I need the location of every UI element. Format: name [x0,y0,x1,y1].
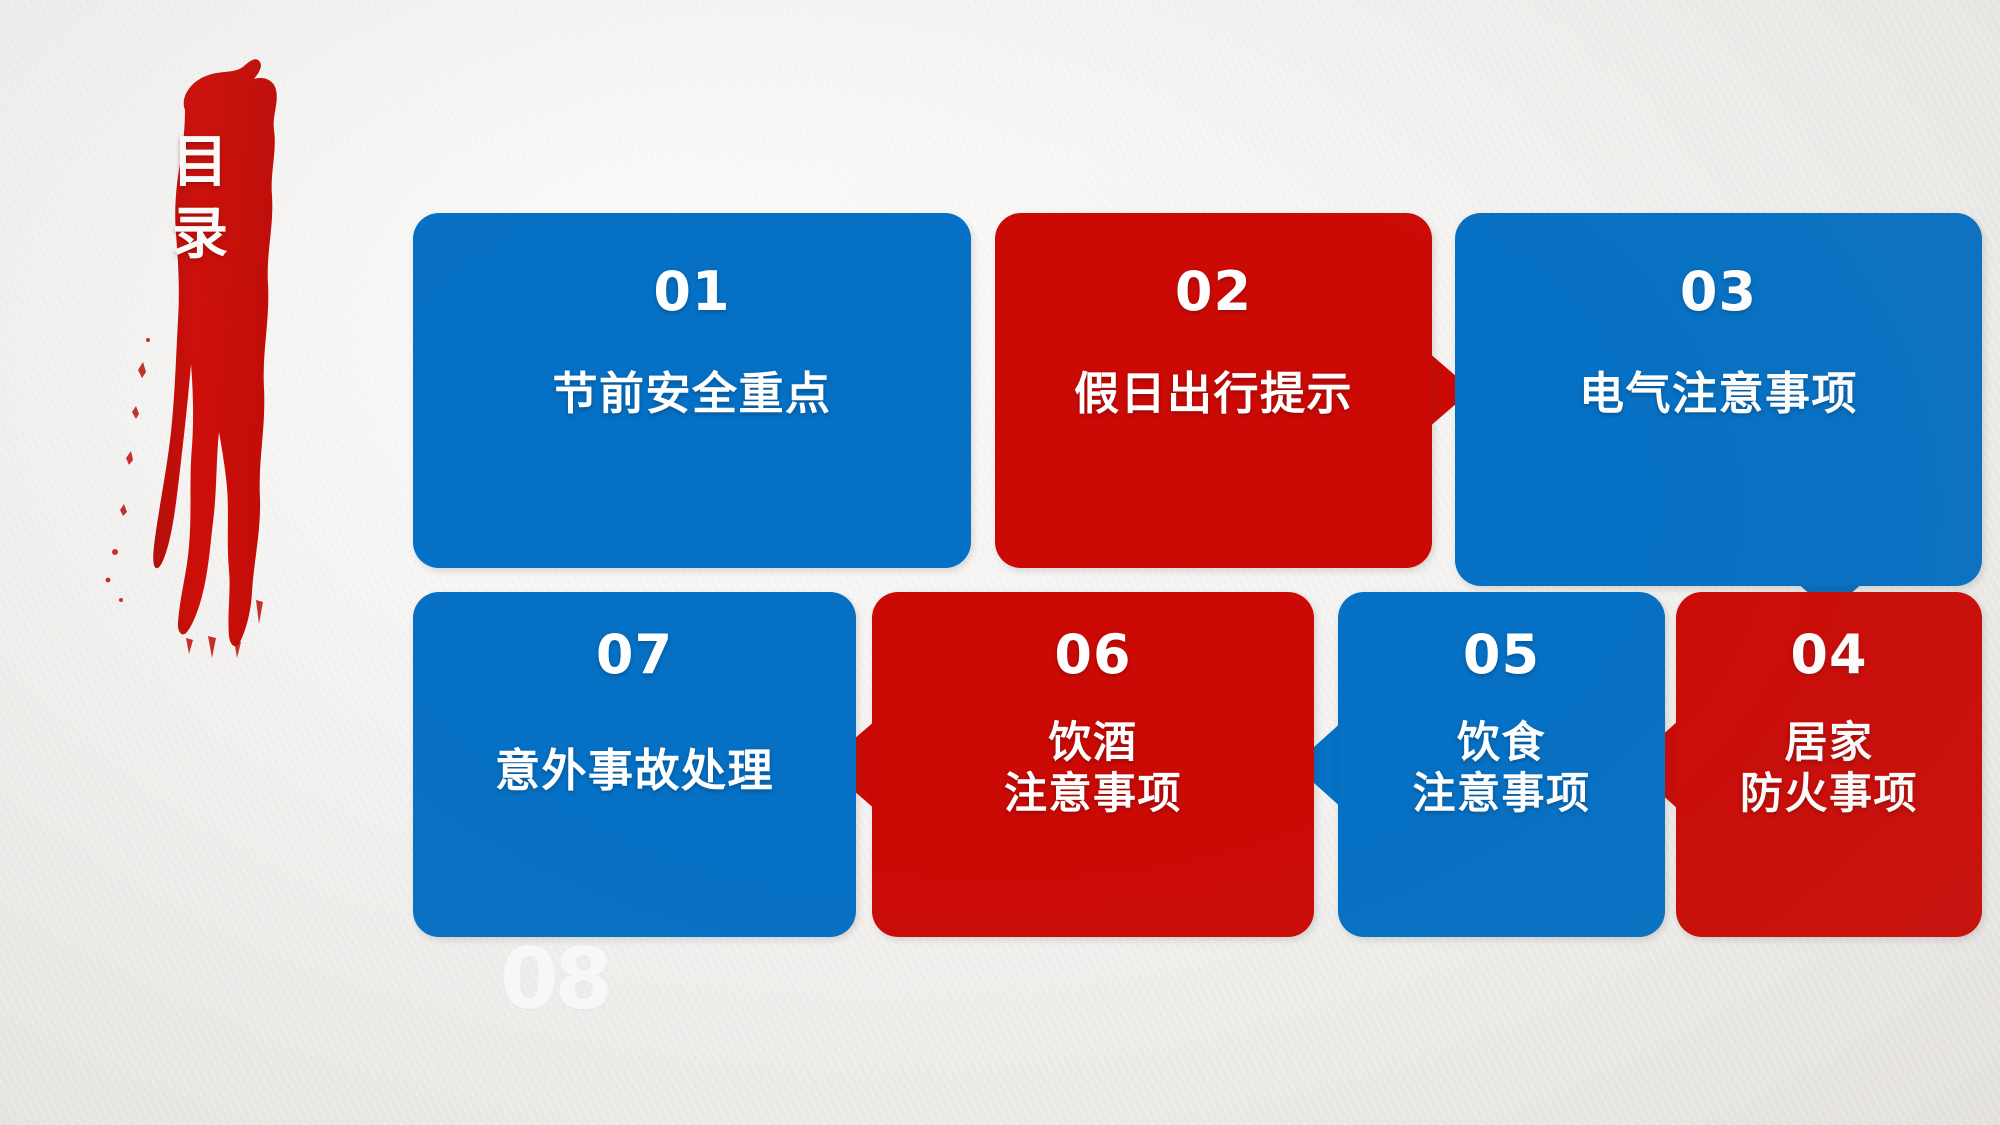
toc-card-label: 居家 防火事项 [1740,718,1918,819]
toc-card-number: 02 [1175,265,1252,319]
toc-card-number: 07 [596,628,673,682]
toc-card-number: 05 [1463,628,1540,682]
toc-card-number: 03 [1680,265,1757,319]
toc-card-06[interactable]: 06 饮酒 注意事项 [872,592,1314,937]
page-title-char-2: 录 [126,198,276,270]
toc-card-number: 01 [653,265,730,319]
toc-card-number: 06 [1054,628,1131,682]
toc-card-label: 节前安全重点 [552,367,831,420]
slide-canvas: 目 录 01 节前安全重点 02 假日出行提示 03 电气注意事项 04 居家 … [0,0,2000,1125]
toc-card-01[interactable]: 01 节前安全重点 [413,213,971,568]
toc-card-label: 意外事故处理 [495,744,774,797]
toc-card-label: 饮酒 注意事项 [1004,718,1182,819]
watermark-number: 08 [500,930,609,1028]
toc-card-05[interactable]: 05 饮食 注意事项 [1338,592,1665,937]
toc-card-number: 04 [1790,628,1867,682]
toc-card-03[interactable]: 03 电气注意事项 [1455,213,1982,586]
toc-card-07[interactable]: 07 意外事故处理 [413,592,856,937]
toc-card-label: 假日出行提示 [1074,367,1353,420]
page-title: 目 录 [126,126,276,269]
page-title-char-1: 目 [126,126,276,198]
toc-card-04[interactable]: 04 居家 防火事项 [1676,592,1982,937]
toc-card-02[interactable]: 02 假日出行提示 [995,213,1432,568]
toc-card-label: 电气注意事项 [1579,367,1858,420]
toc-card-label: 饮食 注意事项 [1413,718,1591,819]
